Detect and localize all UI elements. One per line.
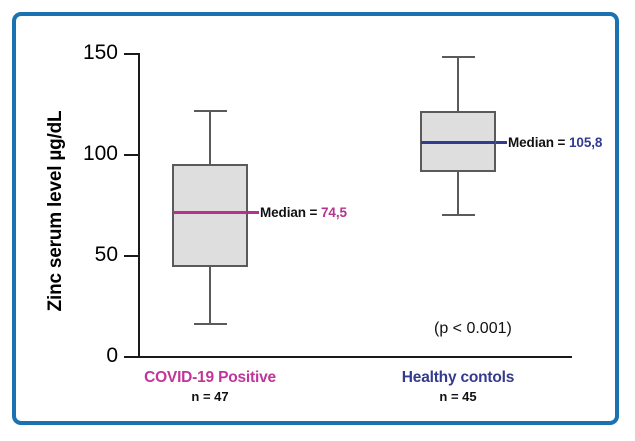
y-axis-line	[138, 53, 140, 358]
y-axis-title: Zinc serum level µg/dL	[45, 71, 67, 351]
category-name-healthy: Healthy contols	[358, 368, 558, 387]
whisker-cap-lower-healthy	[442, 214, 475, 216]
median-connector-covid	[248, 211, 259, 214]
pvalue-annotation: (p < 0.001)	[434, 320, 512, 338]
median-line-healthy	[421, 141, 495, 144]
median-label-text-healthy: Median =	[508, 135, 565, 150]
category-name-covid: COVID-19 Positive	[110, 368, 310, 387]
y-tick-label-0: 0	[28, 345, 118, 366]
box-covid	[172, 164, 248, 267]
median-value-covid: 74,5	[321, 205, 347, 220]
median-label-text-covid: Median =	[260, 205, 317, 220]
median-label-covid: Median = 74,5	[260, 205, 347, 220]
median-label-healthy: Median = 105,8	[508, 135, 602, 150]
whisker-line-lower-covid	[209, 266, 211, 324]
y-tick-label-150-wrap: 150	[26, 42, 118, 64]
y-tick-label-50-wrap: 50	[26, 244, 118, 266]
y-tick-mark-100	[124, 154, 139, 156]
median-connector-healthy	[496, 141, 507, 144]
median-value-healthy: 105,8	[569, 135, 602, 150]
y-tick-label-150: 150	[28, 42, 118, 63]
category-label-healthy: Healthy contols n = 45	[358, 368, 558, 407]
whisker-line-upper-healthy	[457, 56, 459, 112]
y-tick-mark-50	[124, 255, 139, 257]
category-label-covid: COVID-19 Positive n = 47	[110, 368, 310, 407]
y-tick-label-0-wrap: 0	[26, 345, 118, 367]
whisker-line-lower-healthy	[457, 171, 459, 215]
whisker-line-upper-covid	[209, 110, 211, 166]
y-tick-label-100: 100	[28, 143, 118, 164]
x-axis-line	[138, 356, 572, 358]
y-tick-label-50: 50	[28, 244, 118, 265]
y-tick-label-100-wrap: 100	[26, 143, 118, 165]
y-tick-mark-0	[124, 356, 139, 358]
plot-area: Zinc serum level µg/dL 150 100 50 0	[0, 0, 635, 441]
median-line-covid	[173, 211, 247, 214]
y-tick-mark-150	[124, 53, 139, 55]
category-n-covid: n = 47	[110, 387, 310, 407]
boxplot-figure: Zinc serum level µg/dL 150 100 50 0	[0, 0, 635, 441]
whisker-cap-lower-covid	[194, 323, 227, 325]
category-n-healthy: n = 45	[358, 387, 558, 407]
